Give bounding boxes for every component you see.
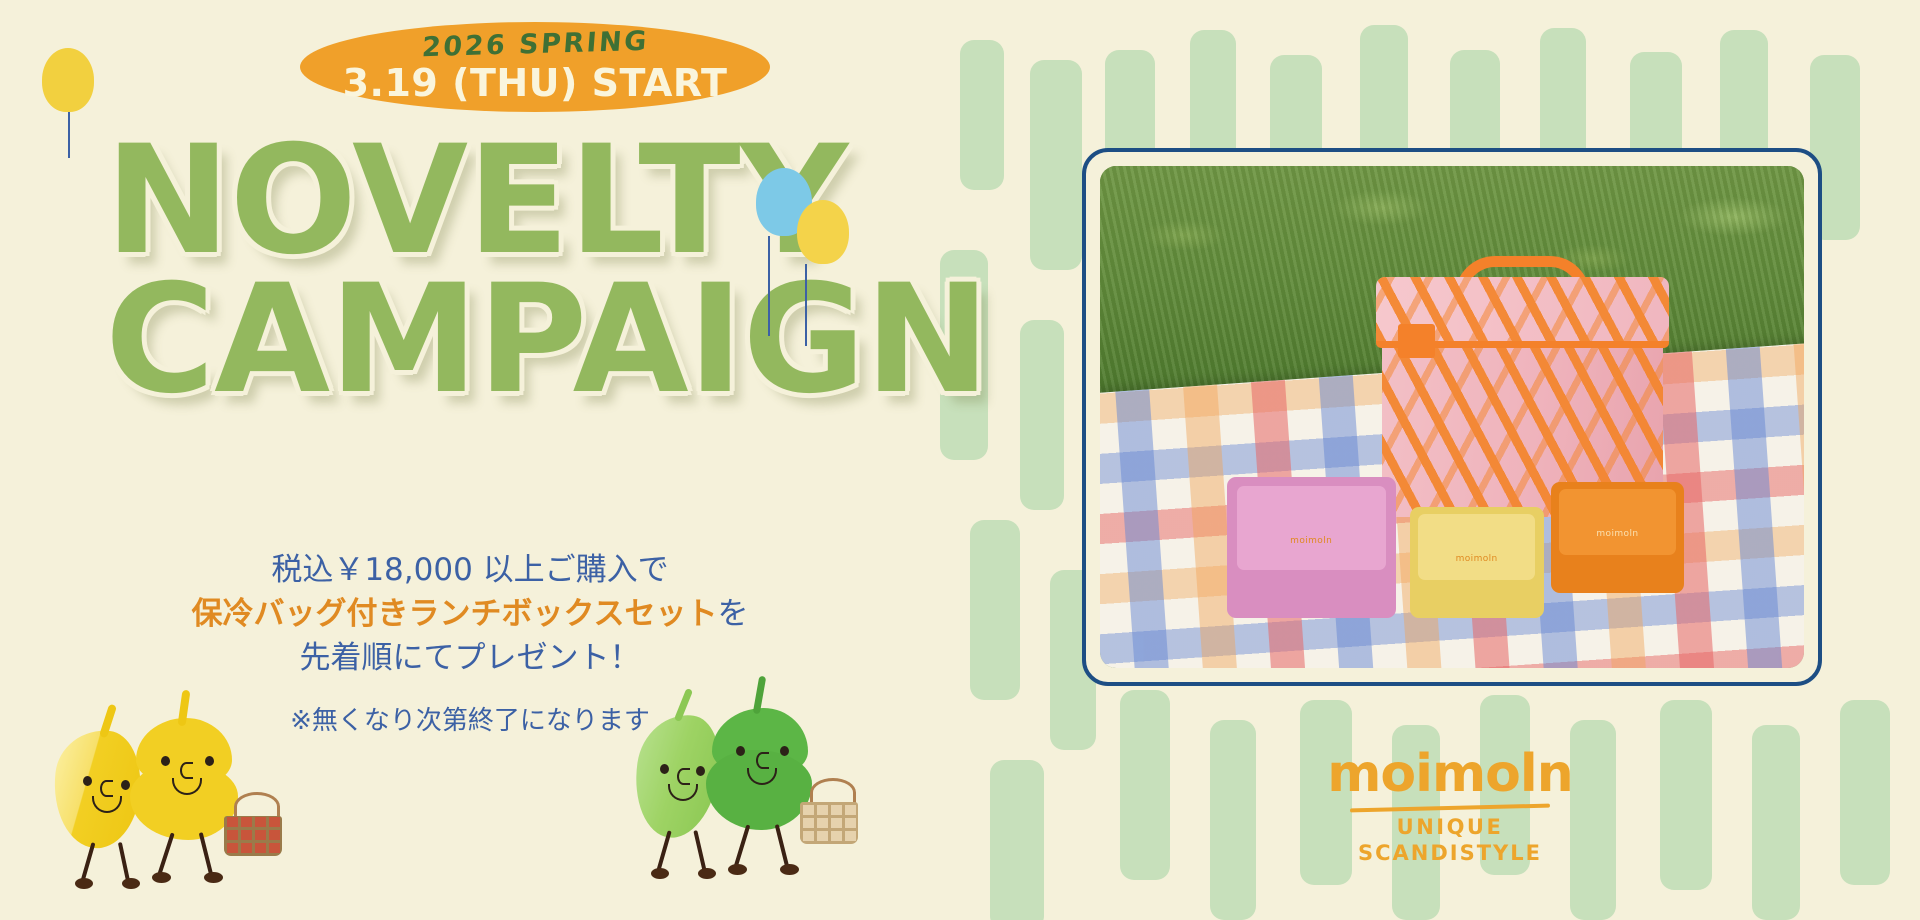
yellow-lunch-box-lid — [1418, 514, 1536, 580]
brand-name: moimoln — [1300, 748, 1600, 800]
bag-zipper-tab — [1398, 324, 1435, 358]
headline-line-2: CAMPAIGN — [105, 267, 965, 414]
brand-tagline-line-1: UNIQUE — [1300, 814, 1600, 840]
badge-start-date: 3.19 (THU) START — [343, 61, 728, 105]
balloon-yellow-left — [42, 48, 94, 112]
product-photo: moimoln moimoln moimoln — [1100, 166, 1804, 668]
lemon-character — [128, 700, 258, 880]
picnic-basket-tan — [798, 778, 860, 844]
brand-tagline-line-2: SCANDISTYLE — [1300, 840, 1600, 866]
logo-underline — [1350, 804, 1550, 813]
product-photo-frame: moimoln moimoln moimoln — [1082, 148, 1822, 686]
campaign-date-badge: 2026 SPRING 3.19 (THU) START — [300, 22, 770, 112]
page-title: NOVELTY CAMPAIGN — [105, 128, 965, 414]
copy-line-2: 保冷バッグ付きランチボックスセットを — [120, 592, 820, 636]
badge-season-label: 2026 SPRING — [420, 26, 649, 63]
copy-line-2-suffix: を — [718, 596, 749, 632]
cooler-bag — [1382, 256, 1664, 517]
orange-lunch-box-brand: moimoln — [1551, 529, 1685, 539]
copy-line-1: 税込￥18,000 以上ご購入で — [120, 548, 820, 592]
leaf-character-dark — [706, 688, 836, 878]
pink-lunch-box: moimoln — [1227, 477, 1396, 618]
balloon-yellow-right — [797, 200, 849, 264]
copy-line-2-highlight: 保冷バッグ付きランチボックスセット — [191, 596, 717, 632]
pink-lunch-box-brand: moimoln — [1227, 536, 1396, 546]
campaign-banner: 2026 SPRING 3.19 (THU) START NOVELTY CAM… — [0, 0, 1920, 920]
brand-logo: moimoln UNIQUE SCANDISTYLE — [1300, 748, 1600, 867]
orange-lunch-box: moimoln — [1551, 482, 1685, 592]
picnic-basket-red — [222, 792, 284, 856]
pink-lunch-box-lid — [1237, 486, 1386, 570]
copy-line-3: 先着順にてプレゼント！ — [120, 636, 820, 680]
yellow-lunch-box-brand: moimoln — [1410, 554, 1544, 564]
orange-lunch-box-lid — [1559, 489, 1677, 555]
yellow-lunch-box: moimoln — [1410, 507, 1544, 617]
